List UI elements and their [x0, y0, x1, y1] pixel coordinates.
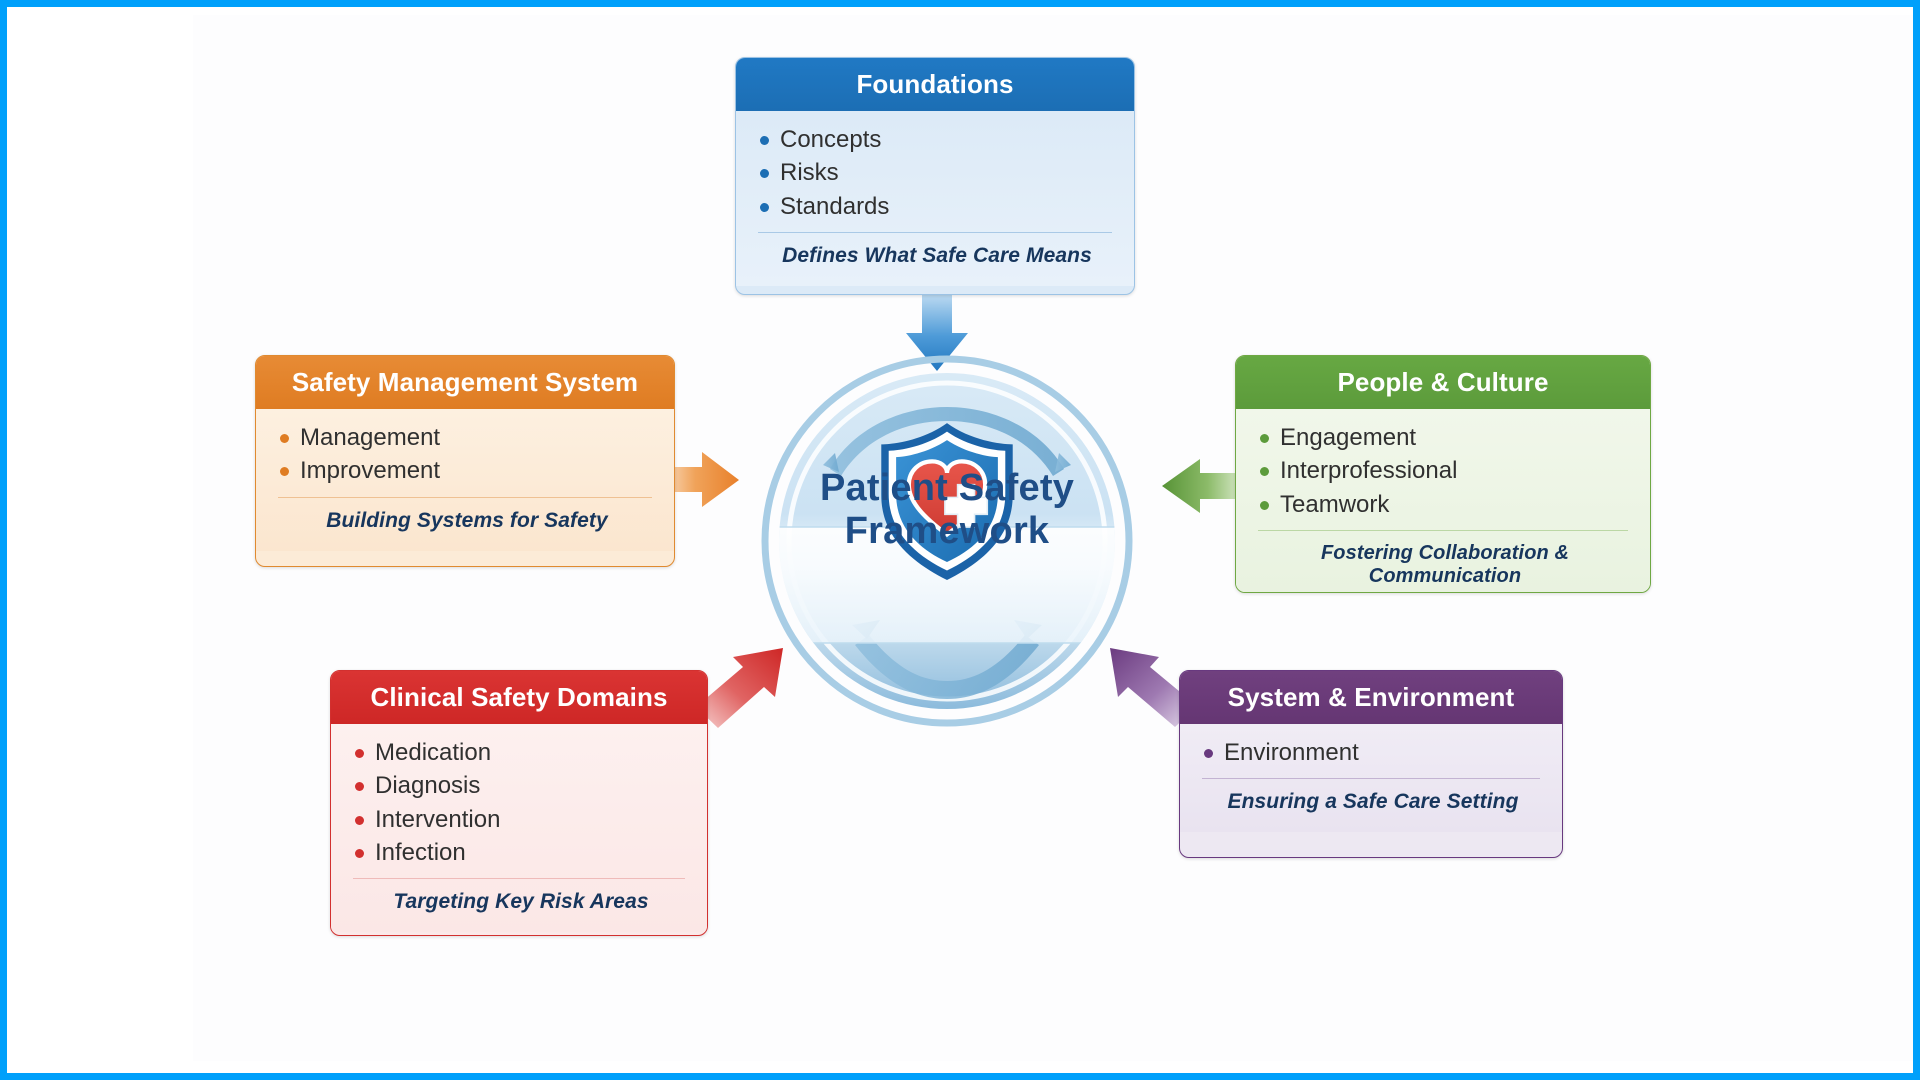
list-item: Concepts	[758, 123, 1116, 156]
node-foundations-list: Concepts Risks Standards	[758, 123, 1116, 223]
node-safety-management-system-tagline: Building Systems for Safety	[278, 498, 656, 539]
list-item: Interprofessional	[1258, 454, 1632, 487]
node-clinical-safety-domains[interactable]: Clinical Safety Domains Medication Diagn…	[330, 670, 708, 936]
node-clinical-safety-domains-body: Medication Diagnosis Intervention Infect…	[331, 724, 707, 932]
list-item: Management	[278, 421, 656, 454]
node-safety-management-system-list: Management Improvement	[278, 421, 656, 488]
node-foundations-tagline: Defines What Safe Care Means	[758, 233, 1116, 274]
node-system-and-environment[interactable]: System & Environment Environment Ensurin…	[1179, 670, 1563, 858]
node-foundations-body: Concepts Risks Standards Defines What Sa…	[736, 111, 1134, 286]
node-safety-management-system-body: Management Improvement Building Systems …	[256, 409, 674, 551]
list-item: Teamwork	[1258, 488, 1632, 521]
node-clinical-safety-domains-tagline: Targeting Key Risk Areas	[353, 879, 689, 920]
node-people-and-culture[interactable]: People & Culture Engagement Interprofess…	[1235, 355, 1651, 593]
node-system-and-environment-body: Environment Ensuring a Safe Care Setting	[1180, 724, 1562, 832]
node-clinical-safety-domains-title: Clinical Safety Domains	[331, 671, 707, 724]
diagram-frame: Patient Safety Framework Foundations Con…	[0, 0, 1920, 1080]
node-clinical-safety-domains-list: Medication Diagnosis Intervention Infect…	[353, 736, 689, 869]
node-system-and-environment-title: System & Environment	[1180, 671, 1562, 724]
node-safety-management-system-title: Safety Management System	[256, 356, 674, 409]
list-item: Diagnosis	[353, 769, 689, 802]
center-emblem: Patient Safety Framework	[735, 339, 1159, 743]
list-item: Medication	[353, 736, 689, 769]
node-safety-management-system[interactable]: Safety Management System Management Impr…	[255, 355, 675, 567]
list-item: Engagement	[1258, 421, 1632, 454]
list-item: Intervention	[353, 803, 689, 836]
list-item: Improvement	[278, 454, 656, 487]
node-people-and-culture-list: Engagement Interprofessional Teamwork	[1258, 421, 1632, 521]
node-people-and-culture-body: Engagement Interprofessional Teamwork Fo…	[1236, 409, 1650, 593]
node-system-and-environment-list: Environment	[1202, 736, 1544, 769]
node-people-and-culture-tagline: Fostering Collaboration & Communication	[1258, 531, 1632, 593]
node-people-and-culture-title: People & Culture	[1236, 356, 1650, 409]
list-item: Infection	[353, 836, 689, 869]
node-foundations-title: Foundations	[736, 58, 1134, 111]
list-item: Environment	[1202, 736, 1544, 769]
node-system-and-environment-tagline: Ensuring a Safe Care Setting	[1202, 779, 1544, 820]
list-item: Standards	[758, 190, 1116, 223]
list-item: Risks	[758, 156, 1116, 189]
node-foundations[interactable]: Foundations Concepts Risks Standards Def…	[735, 57, 1135, 295]
